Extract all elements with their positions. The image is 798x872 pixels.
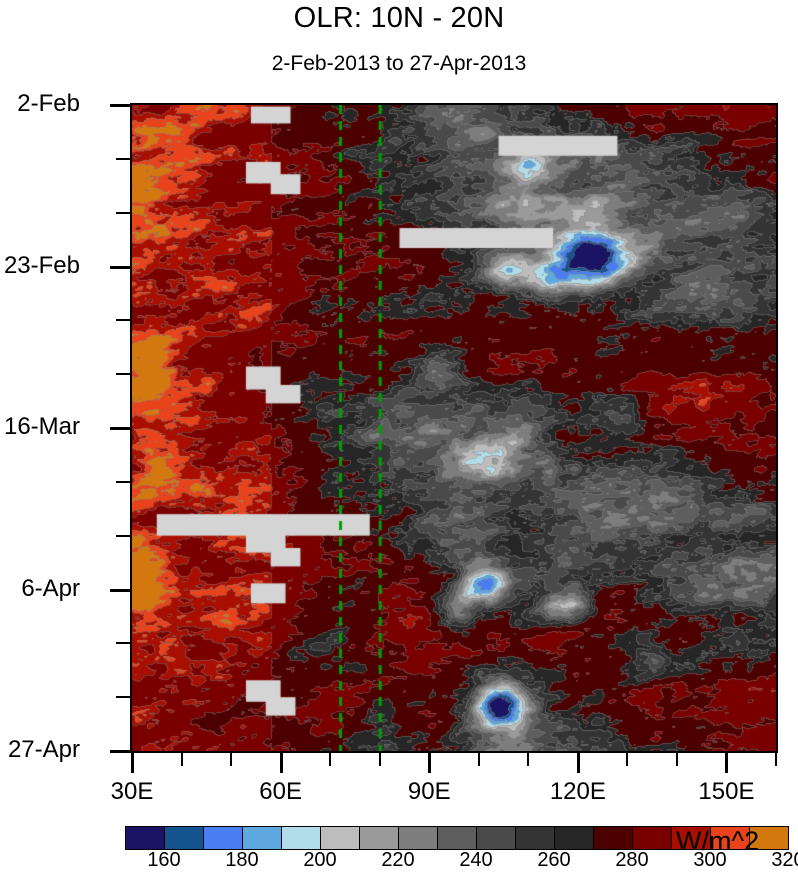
y-axis-label: 6-Apr xyxy=(21,575,80,603)
y-tick-minor xyxy=(116,319,132,321)
colorbar-swatch xyxy=(359,827,398,849)
x-axis-label: 150E xyxy=(698,778,754,806)
colorbar-units: W/m^2 xyxy=(676,826,759,857)
colorbar-swatch xyxy=(320,827,359,849)
x-tick-minor xyxy=(230,753,232,766)
hovmoller-plot-area xyxy=(130,103,778,753)
colorbar-swatch xyxy=(515,827,554,849)
y-tick-minor xyxy=(116,642,132,644)
y-tick-minor xyxy=(116,535,132,537)
y-tick-minor xyxy=(116,158,132,160)
y-axis-label: 27-Apr xyxy=(8,736,80,764)
x-tick-minor xyxy=(329,753,331,766)
colorbar-swatch xyxy=(554,827,593,849)
x-axis-label: 60E xyxy=(259,778,302,806)
y-tick-minor xyxy=(116,696,132,698)
y-tick-major xyxy=(110,750,132,753)
x-tick-major xyxy=(280,753,283,773)
olr-contour-canvas xyxy=(132,105,776,751)
colorbar-swatch xyxy=(437,827,476,849)
y-tick-major xyxy=(110,589,132,592)
x-axis-label: 120E xyxy=(550,778,606,806)
y-tick-major xyxy=(110,266,132,269)
x-axis-label: 30E xyxy=(111,778,154,806)
y-axis-label: 23-Feb xyxy=(4,252,80,280)
colorbar-swatch xyxy=(164,827,203,849)
colorbar-swatch xyxy=(476,827,515,849)
y-tick-minor xyxy=(116,212,132,214)
colorbar-swatch xyxy=(398,827,437,849)
x-tick-minor xyxy=(379,753,381,766)
y-axis-label: 16-Mar xyxy=(4,413,80,441)
x-axis-label: 90E xyxy=(408,778,451,806)
colorbar-swatch xyxy=(203,827,242,849)
y-tick-major xyxy=(110,104,132,107)
x-tick-minor xyxy=(527,753,529,766)
y-axis-label: 2-Feb xyxy=(17,90,80,118)
y-tick-major xyxy=(110,427,132,430)
x-tick-minor xyxy=(181,753,183,766)
chart-subtitle: 2-Feb-2013 to 27-Apr-2013 xyxy=(0,52,798,76)
colorbar-swatch xyxy=(126,827,164,849)
x-tick-minor xyxy=(676,753,678,766)
x-tick-minor xyxy=(626,753,628,766)
x-tick-minor xyxy=(775,753,777,766)
colorbar-swatch xyxy=(242,827,281,849)
y-tick-minor xyxy=(116,481,132,483)
colorbar-swatch xyxy=(281,827,320,849)
x-tick-major xyxy=(131,753,134,773)
chart-title: OLR: 10N - 20N xyxy=(0,2,798,35)
x-tick-major xyxy=(428,753,431,773)
colorbar-swatch xyxy=(593,827,632,849)
y-tick-minor xyxy=(116,373,132,375)
x-tick-major xyxy=(577,753,580,773)
x-tick-minor xyxy=(478,753,480,766)
colorbar-swatch xyxy=(632,827,671,849)
x-tick-major xyxy=(725,753,728,773)
